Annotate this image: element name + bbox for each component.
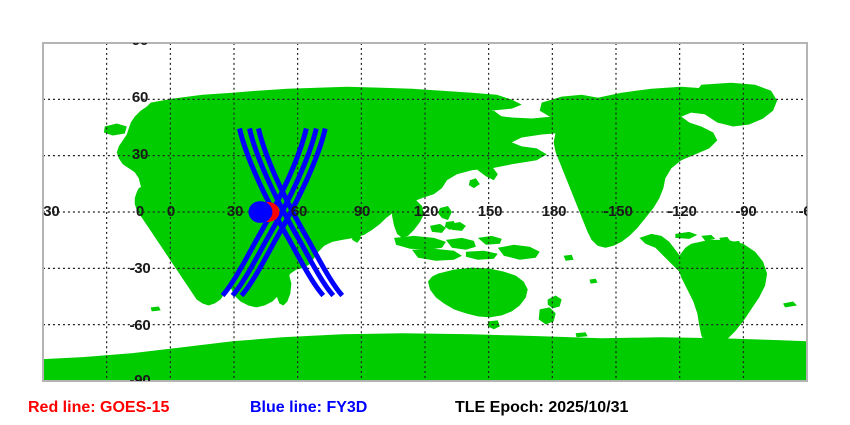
satellite-ground-track-figure: 90 60 30 0 -30 -60 -90 -30 0 30 60 90 12… <box>0 0 850 425</box>
lon-tick-150: 150 <box>468 204 512 219</box>
lon-tick-180: 180 <box>532 204 576 219</box>
lon-tick-0: 0 <box>149 204 193 219</box>
lon-tick-60: 60 <box>277 204 321 219</box>
lat-tick--60: -60 <box>119 318 161 333</box>
legend-entry-tle-epoch: TLE Epoch: 2025/10/31 <box>455 400 628 416</box>
lon-tick-120: 120 <box>404 204 448 219</box>
lon-tick--90: -90 <box>724 204 768 219</box>
lat-tick--30: -30 <box>119 261 161 276</box>
figure-legend: Red line: GOES-15 Blue line: FY3D TLE Ep… <box>0 392 850 425</box>
legend-entry-goes15: Red line: GOES-15 <box>28 400 169 416</box>
lat-tick-90: 90 <box>119 42 161 48</box>
lat-tick-60: 60 <box>119 90 161 105</box>
lon-tick-30: 30 <box>213 204 257 219</box>
lon-tick--120: -120 <box>658 204 706 219</box>
lon-tick--60: -60 <box>787 204 808 219</box>
lon-tick--30: -30 <box>42 204 71 219</box>
legend-entry-fy3d: Blue line: FY3D <box>250 400 367 416</box>
lon-tick--150: -150 <box>594 204 642 219</box>
lat-tick-30: 30 <box>119 147 161 162</box>
lat-tick--90: -90 <box>119 373 161 382</box>
lon-tick-90: 90 <box>340 204 384 219</box>
world-map-plot: 90 60 30 0 -30 -60 -90 -30 0 30 60 90 12… <box>42 42 808 382</box>
